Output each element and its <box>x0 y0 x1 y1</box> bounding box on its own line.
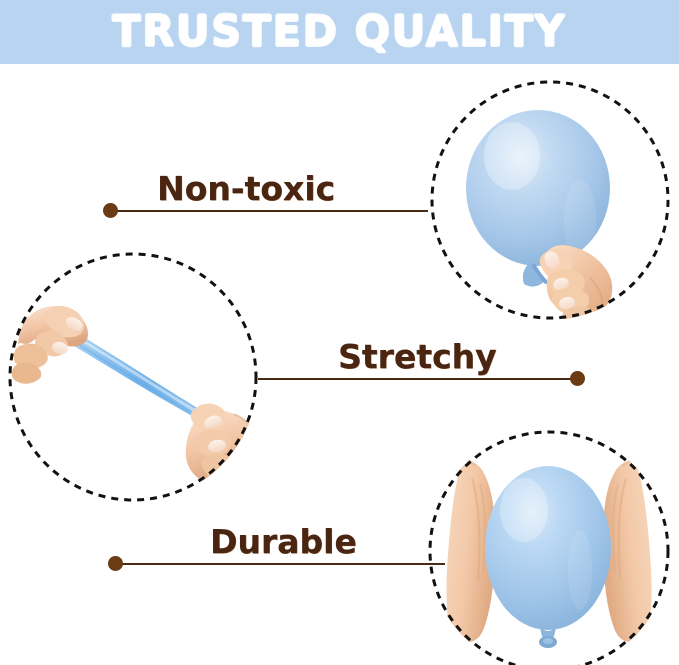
header-banner: TRUSTED QUALITY <box>0 0 679 64</box>
panel-durable <box>428 430 670 665</box>
hand-icon <box>12 306 88 384</box>
connector-dot <box>108 556 123 571</box>
balloon-icon <box>485 466 611 648</box>
connector-dot <box>103 203 118 218</box>
feature-label-stretchy: Stretchy <box>338 340 497 373</box>
panel-stretchy <box>8 252 258 502</box>
infographic-root: TRUSTED QUALITY <box>0 0 679 665</box>
feature-label-durable: Durable <box>210 525 357 558</box>
hand-icon <box>540 245 613 320</box>
page-title: TRUSTED QUALITY <box>113 10 567 52</box>
image-hands-stretching-balloon <box>8 252 258 502</box>
connector-line <box>110 563 445 565</box>
feature-label-non-toxic: Non-toxic <box>157 172 335 205</box>
connector-line <box>105 210 428 212</box>
connector-line <box>258 378 583 380</box>
image-hand-holding-balloon <box>430 80 670 320</box>
image-hands-squeezing-balloon <box>428 430 670 665</box>
hand-icon <box>186 404 256 498</box>
panel-non-toxic <box>430 80 670 320</box>
connector-dot <box>570 371 585 386</box>
